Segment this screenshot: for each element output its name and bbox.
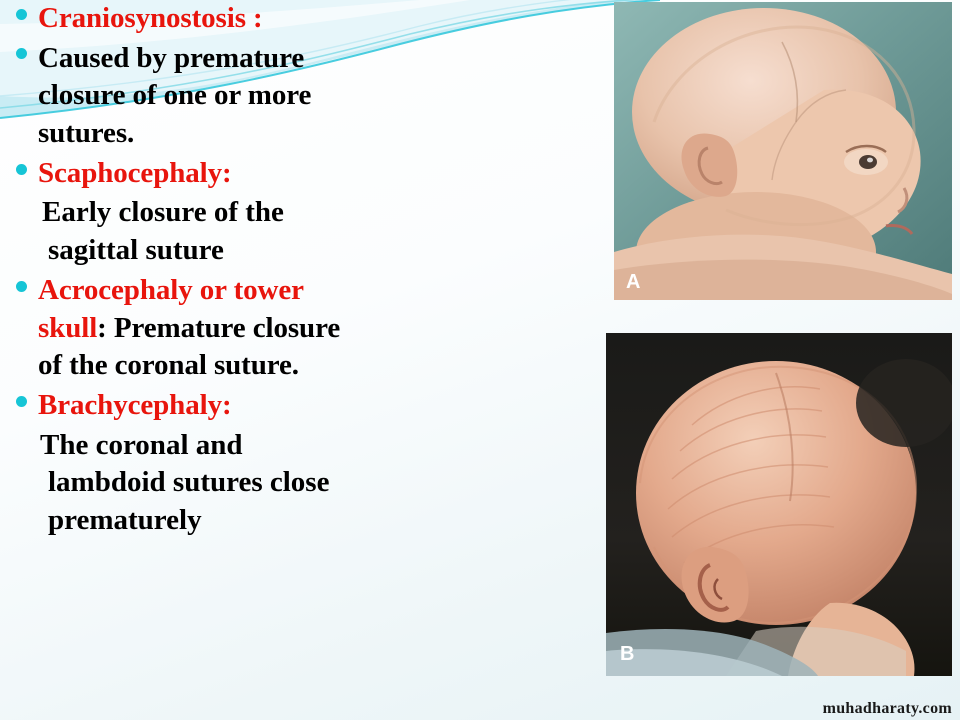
description-line: sagittal suture xyxy=(38,232,620,270)
description-line: lambdoid sutures close xyxy=(38,464,620,502)
footer-watermark: muhadharaty.com xyxy=(823,700,952,718)
bullet-line: of the coronal suture. xyxy=(38,347,620,385)
description-text: sagittal suture xyxy=(48,234,224,266)
slide-text-content: Craniosynostosis : Caused by premature c… xyxy=(0,0,620,720)
bullet-line: Scaphocephaly: xyxy=(38,155,620,193)
description-text: prematurely xyxy=(48,504,202,536)
photo-b-label: B xyxy=(620,643,635,666)
description-line: The coronal and xyxy=(38,427,620,465)
bullet-text: Scaphocephaly: xyxy=(38,157,232,189)
bullet-line: sutures. xyxy=(38,115,620,153)
bullet-line: closure of one or more xyxy=(38,77,620,115)
list-item-brachycephaly-description: The coronal and lambdoid sutures close p… xyxy=(0,427,620,540)
list-item-scaphocephaly: Scaphocephaly: xyxy=(0,155,620,193)
list-item-scaphocephaly-description: Early closure of the sagittal suture xyxy=(0,194,620,269)
list-item-craniosynostosis: Craniosynostosis : xyxy=(0,0,620,38)
bullet-list: Craniosynostosis : Caused by premature c… xyxy=(0,0,620,540)
bullet-text: Brachycephaly: xyxy=(38,389,232,421)
infant-head-lateral-photo-a: A xyxy=(614,2,952,300)
description-line: Early closure of the xyxy=(38,194,620,232)
description-text: lambdoid sutures close xyxy=(48,466,329,498)
bullet-dot-icon xyxy=(16,9,27,20)
bullet-text: closure of one or more xyxy=(38,79,311,111)
bullet-text: Caused by premature xyxy=(38,42,304,74)
bullet-text: of the coronal suture. xyxy=(38,349,299,381)
photo-a-label: A xyxy=(626,271,641,294)
slide-canvas: Craniosynostosis : Caused by premature c… xyxy=(0,0,960,720)
list-item-caused-by: Caused by premature closure of one or mo… xyxy=(0,40,620,153)
bullet-dot-icon xyxy=(16,48,27,59)
bullet-line: Craniosynostosis : xyxy=(38,0,620,38)
infant-head-lateral-photo-b: B xyxy=(606,333,952,676)
bullet-text: Acrocephaly or tower xyxy=(38,274,304,306)
bullet-line: Acrocephaly or tower xyxy=(38,272,620,310)
bullet-line: Caused by premature xyxy=(38,40,620,78)
bullet-dot-icon xyxy=(16,281,27,292)
photo-b-illustration xyxy=(606,333,952,676)
bullet-text: sutures. xyxy=(38,117,134,149)
description-line: prematurely xyxy=(38,502,620,540)
list-item-acrocephaly: Acrocephaly or tower skull: Premature cl… xyxy=(0,272,620,385)
bullet-text: Craniosynostosis : xyxy=(38,2,263,34)
bullet-line: skull: Premature closure xyxy=(38,310,620,348)
bullet-text-emphasis: skull xyxy=(38,312,97,344)
bullet-text: : Premature closure xyxy=(97,312,340,344)
description-text: The coronal and xyxy=(40,429,243,461)
description-text: Early closure of the xyxy=(42,196,284,228)
bullet-dot-icon xyxy=(16,164,27,175)
list-item-brachycephaly: Brachycephaly: xyxy=(0,387,620,425)
photo-a-illustration xyxy=(614,2,952,300)
bullet-dot-icon xyxy=(16,396,27,407)
bullet-line: Brachycephaly: xyxy=(38,387,620,425)
